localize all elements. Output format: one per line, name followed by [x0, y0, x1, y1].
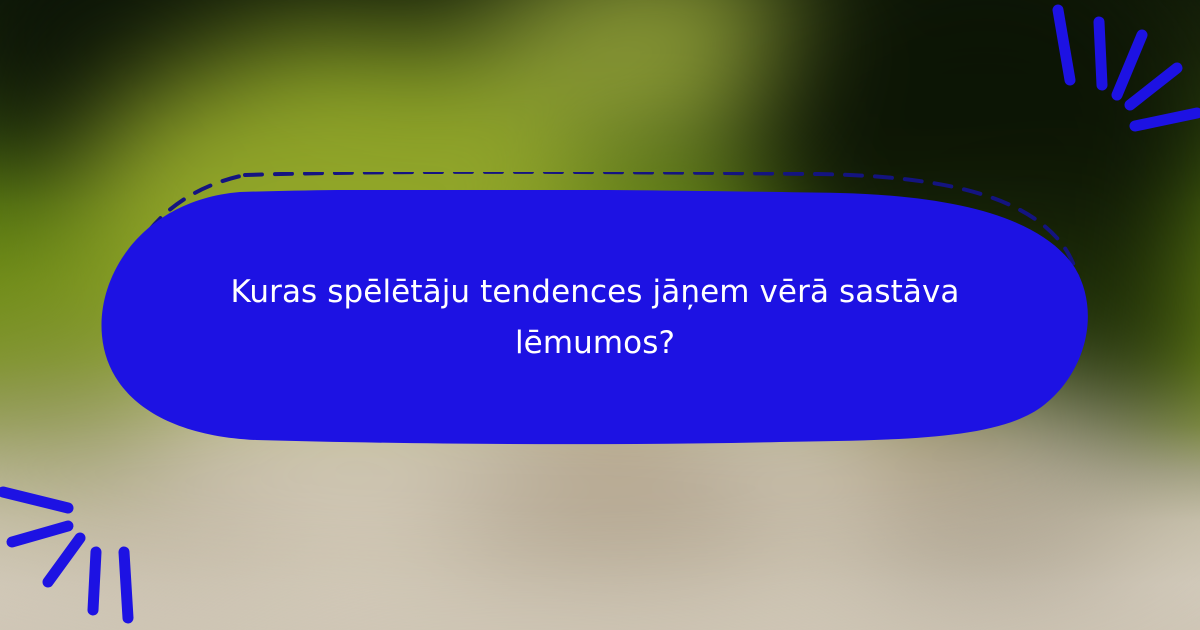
question-card-canvas: Kuras spēlētāju tendences jāņem vērā sas… — [0, 0, 1200, 630]
bg-patch-sand-smudge-2 — [840, 465, 1140, 585]
bg-patch-sand-smudge-3 — [40, 450, 300, 570]
question-text: Kuras spēlētāju tendences jāņem vērā sas… — [150, 190, 1040, 445]
